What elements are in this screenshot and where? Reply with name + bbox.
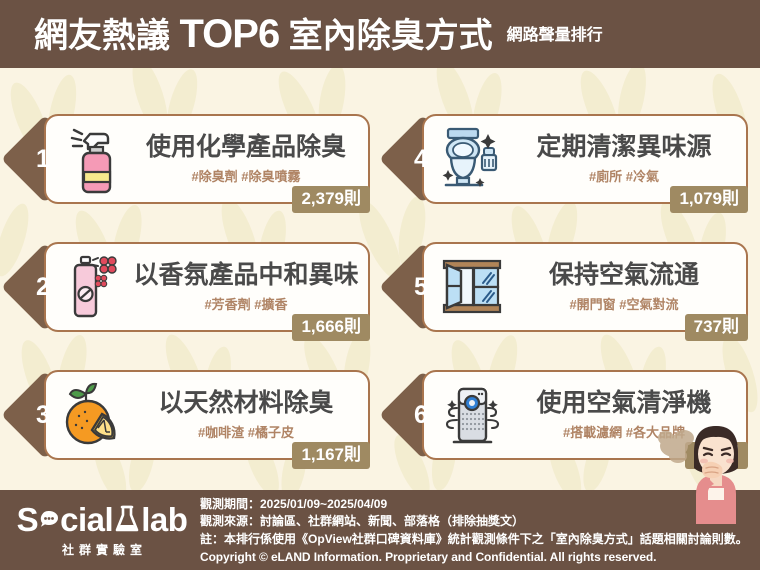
rank-item-4[interactable]: 4 <box>392 108 748 212</box>
rank-tags: #廁所 #冷氣 <box>589 166 659 185</box>
footer-bar: S cial lab 社群實驗室 觀測期間：2025/01/09~2025/04… <box>0 490 760 570</box>
rank-count-badge: 737則 <box>685 314 748 341</box>
page-title: 網友熱議 TOP6 室內除臭方式 <box>34 14 493 54</box>
rank-label: 定期清潔異味源 <box>536 133 711 161</box>
logo-subtitle: 社群實驗室 <box>57 541 147 558</box>
rank-count-badge: 1,167則 <box>292 442 370 469</box>
speech-bubble-icon <box>38 509 60 529</box>
rank-label: 以天然材料除臭 <box>158 389 333 417</box>
logo-wordmark: S cial lab <box>17 503 188 536</box>
rank-tags: #開門窗 #空氣對流 <box>569 294 678 313</box>
rank-label: 保持空氣流通 <box>549 261 699 289</box>
rank-item-2[interactable]: 2 <box>14 236 370 340</box>
rank-number: 1 <box>14 128 76 190</box>
rank-number: 2 <box>14 256 76 318</box>
rank-count-badge: 1,666則 <box>292 314 370 341</box>
title-prefix: 網友熱議 <box>34 17 179 55</box>
rank-number: 5 <box>392 256 454 318</box>
rank-texts: 以天然材料除臭 #咖啡渣 #橘子皮 <box>132 389 368 441</box>
rank-label: 使用化學產品除臭 <box>146 133 346 161</box>
social-lab-logo[interactable]: S cial lab 社群實驗室 <box>0 503 200 558</box>
rank-texts: 使用化學產品除臭 #除臭劑 #除臭噴霧 <box>132 133 368 185</box>
rank-tags: #除臭劑 #除臭噴霧 <box>191 166 300 185</box>
nose-pinch-character-illustration <box>656 412 752 524</box>
logo-lab: lab <box>141 503 187 536</box>
logo-cial: cial <box>60 503 113 536</box>
rank-item-3[interactable]: 3 <box>14 364 370 468</box>
observation-note: 註：本排行係使用《OpView社群口碑資料庫》統計觀測條件下之「室內除臭方式」話… <box>200 531 754 549</box>
rank-number: 6 <box>392 384 454 446</box>
rank-count-badge: 1,079則 <box>670 186 748 213</box>
rank-label: 以香氛產品中和異味 <box>133 261 358 289</box>
header-subtitle: 網路聲量排行 <box>507 21 603 47</box>
rank-item-1[interactable]: 1 使用化學產品除臭 #除 <box>14 108 370 212</box>
rank-number: 4 <box>392 128 454 190</box>
rank-item-5[interactable]: 5 <box>392 236 748 340</box>
logo-s: S <box>17 503 39 536</box>
ranking-list: 1 使用化學產品除臭 #除 <box>0 68 760 480</box>
header-bar: 網友熱議 TOP6 室內除臭方式 網路聲量排行 <box>0 0 760 68</box>
rank-number: 3 <box>14 384 76 446</box>
copyright-line: Copyright © eLAND Information. Proprieta… <box>200 549 754 567</box>
rank-count-badge: 2,379則 <box>292 186 370 213</box>
title-top6: TOP6 <box>179 12 279 56</box>
rank-texts: 保持空氣流通 #開門窗 #空氣對流 <box>510 261 746 313</box>
rank-tags: #咖啡渣 #橘子皮 <box>198 422 294 441</box>
rank-tags: #芳香劑 #擴香 <box>204 294 287 313</box>
title-suffix: 室內除臭方式 <box>279 17 492 55</box>
rank-texts: 以香氛產品中和異味 #芳香劑 #擴香 <box>132 261 368 313</box>
rank-texts: 定期清潔異味源 #廁所 #冷氣 <box>510 133 746 185</box>
flask-icon <box>114 504 140 534</box>
